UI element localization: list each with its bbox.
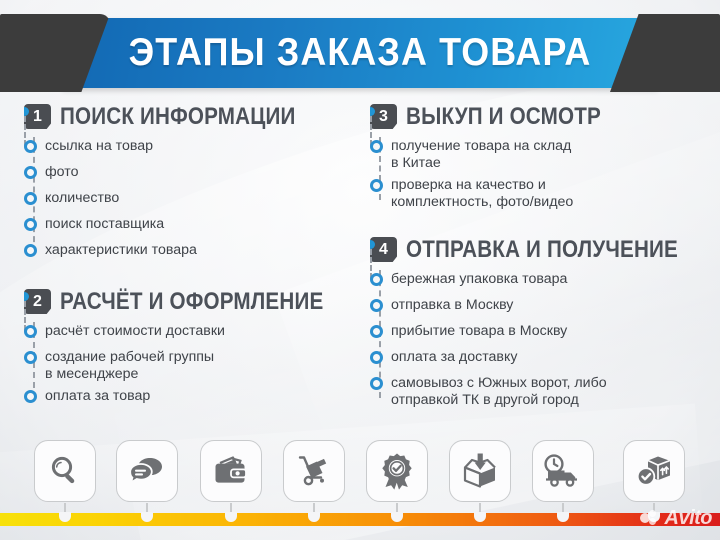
icon-tile-chat	[116, 440, 178, 502]
list-item: прибытие товара в Москву	[391, 322, 710, 344]
icon-tile-delivery-truck-clock	[532, 440, 594, 502]
bullet-ring-icon	[370, 299, 383, 312]
avito-watermark: Avito	[640, 508, 713, 528]
bullet-ring-icon	[24, 244, 37, 257]
list-item-label: получение товара на складв Китае	[391, 137, 571, 172]
section-3-title: ВЫКУП И ОСМОТР	[406, 105, 601, 129]
timeline-bar	[0, 513, 720, 526]
bullet-ring-icon	[24, 192, 37, 205]
delivery-truck-clock-icon	[543, 454, 583, 488]
package-arrow-icon	[461, 453, 499, 489]
badge-dot-icon	[366, 107, 375, 116]
badge-dot-icon	[20, 292, 29, 301]
bullet-ring-icon	[370, 273, 383, 286]
list-item: поиск поставщика	[45, 215, 364, 237]
avito-wordmark: Avito	[665, 508, 713, 528]
badge-dot-icon	[20, 107, 29, 116]
section-1-number: 1	[33, 108, 42, 126]
bullet-ring-icon	[24, 390, 37, 403]
section-1-header: 1 ПОИСК ИНФОРМАЦИИ	[24, 104, 364, 129]
hand-truck-icon	[295, 453, 333, 489]
section-1: 1 ПОИСК ИНФОРМАЦИИ ссылка на товар фото …	[24, 104, 364, 263]
wallet-icon	[212, 454, 250, 488]
sections-area: 1 ПОИСК ИНФОРМАЦИИ ссылка на товар фото …	[0, 104, 720, 434]
list-item: расчёт стоимости доставки	[45, 322, 364, 344]
list-item: оплата за товар	[45, 387, 364, 409]
icon-tile-hand-truck	[283, 440, 345, 502]
section-3: 3 ВЫКУП И ОСМОТР получение товара на скл…	[370, 104, 710, 211]
list-item: оплата за доставку	[391, 348, 710, 370]
header-banner: ЭТАПЫ ЗАКАЗА ТОВАРА	[0, 14, 720, 94]
list-item-label: самовывоз с Южных ворот, либоотправкой Т…	[391, 374, 607, 409]
section-4-title: ОТПРАВКА И ПОЛУЧЕНИЕ	[406, 238, 678, 262]
bullet-ring-icon	[24, 166, 37, 179]
list-item: количество	[45, 189, 364, 211]
list-item-label: фото	[45, 163, 78, 181]
list-item: фото	[45, 163, 364, 185]
list-item: проверка на качество икомплектность, фот…	[391, 176, 710, 211]
timeline-notch	[308, 512, 320, 522]
section-4-header: 4 ОТПРАВКА И ПОЛУЧЕНИЕ	[370, 237, 710, 262]
list-item: самовывоз с Южных ворот, либоотправкой Т…	[391, 374, 710, 409]
list-item-label: оплата за товар	[45, 387, 150, 405]
list-item: отправка в Москву	[391, 296, 710, 318]
section-1-title: ПОИСК ИНФОРМАЦИИ	[60, 105, 295, 129]
bullet-ring-icon	[24, 351, 37, 364]
list-item: создание рабочей группыв месенджере	[45, 348, 364, 383]
section-3-bullets: получение товара на складв Китае проверк…	[370, 137, 710, 211]
list-item-label: отправка в Москву	[391, 296, 513, 314]
section-2: 2 РАСЧЁТ И ОФОРМЛЕНИЕ расчёт стоимости д…	[24, 289, 364, 409]
list-item: характеристики товара	[45, 241, 364, 263]
section-4: 4 ОТПРАВКА И ПОЛУЧЕНИЕ бережная упаковка…	[370, 237, 710, 409]
timeline-notch	[557, 512, 569, 522]
icon-tile-boxes-check	[623, 440, 685, 502]
timeline-notch	[225, 512, 237, 522]
column-left: 1 ПОИСК ИНФОРМАЦИИ ссылка на товар фото …	[24, 104, 364, 413]
bullet-ring-icon	[370, 140, 383, 153]
icon-tile-package-arrow	[449, 440, 511, 502]
bullet-ring-icon	[24, 218, 37, 231]
list-item-label: расчёт стоимости доставки	[45, 322, 225, 340]
bullet-ring-icon	[24, 140, 37, 153]
list-item-label: количество	[45, 189, 119, 207]
bullet-ring-icon	[370, 325, 383, 338]
magnifier-icon	[47, 453, 83, 489]
list-item-label: прибытие товара в Москву	[391, 322, 567, 340]
icon-tile-magnifier	[34, 440, 96, 502]
list-item-label: создание рабочей группыв месенджере	[45, 348, 214, 383]
avito-logo-icon	[640, 510, 661, 526]
list-item: бережная упаковка товара	[391, 270, 710, 292]
timeline-notch	[59, 512, 71, 522]
timeline-notch	[141, 512, 153, 522]
section-3-number: 3	[379, 108, 388, 126]
page-title: ЭТАПЫ ЗАКАЗА ТОВАРА	[86, 18, 634, 88]
section-2-bullets: расчёт стоимости доставки создание рабоч…	[24, 322, 364, 409]
list-item-label: проверка на качество икомплектность, фот…	[391, 176, 573, 211]
list-item-label: оплата за доставку	[391, 348, 517, 366]
section-2-header: 2 РАСЧЁТ И ОФОРМЛЕНИЕ	[24, 289, 364, 314]
bullet-ring-icon	[24, 325, 37, 338]
bullet-ring-icon	[370, 351, 383, 364]
section-4-bullets: бережная упаковка товара отправка в Моск…	[370, 270, 710, 409]
chat-bubbles-icon	[128, 454, 166, 488]
section-3-header: 3 ВЫКУП И ОСМОТР	[370, 104, 710, 129]
icon-tile-wallet	[200, 440, 262, 502]
icon-strip	[0, 440, 720, 508]
bullet-ring-icon	[370, 179, 383, 192]
infographic-canvas: ЭТАПЫ ЗАКАЗА ТОВАРА 1 ПОИСК ИНФОРМАЦИИ с…	[0, 0, 720, 540]
section-2-number: 2	[33, 293, 42, 311]
list-item-label: характеристики товара	[45, 241, 197, 259]
list-item: ссылка на товар	[45, 137, 364, 159]
section-2-title: РАСЧЁТ И ОФОРМЛЕНИЕ	[60, 290, 323, 314]
list-item: получение товара на складв Китае	[391, 137, 710, 172]
list-item-label: бережная упаковка товара	[391, 270, 567, 288]
bullet-ring-icon	[370, 377, 383, 390]
timeline-notch	[391, 512, 403, 522]
list-item-label: поиск поставщика	[45, 215, 164, 233]
badge-dot-icon	[366, 240, 375, 249]
section-1-bullets: ссылка на товар фото количество поиск по…	[24, 137, 364, 263]
boxes-check-icon	[635, 454, 673, 488]
column-right: 3 ВЫКУП И ОСМОТР получение товара на скл…	[370, 104, 710, 413]
icon-tile-quality-badge	[366, 440, 428, 502]
quality-badge-icon	[379, 452, 415, 490]
list-item-label: ссылка на товар	[45, 137, 153, 155]
section-4-number: 4	[379, 241, 388, 259]
timeline-notch	[474, 512, 486, 522]
